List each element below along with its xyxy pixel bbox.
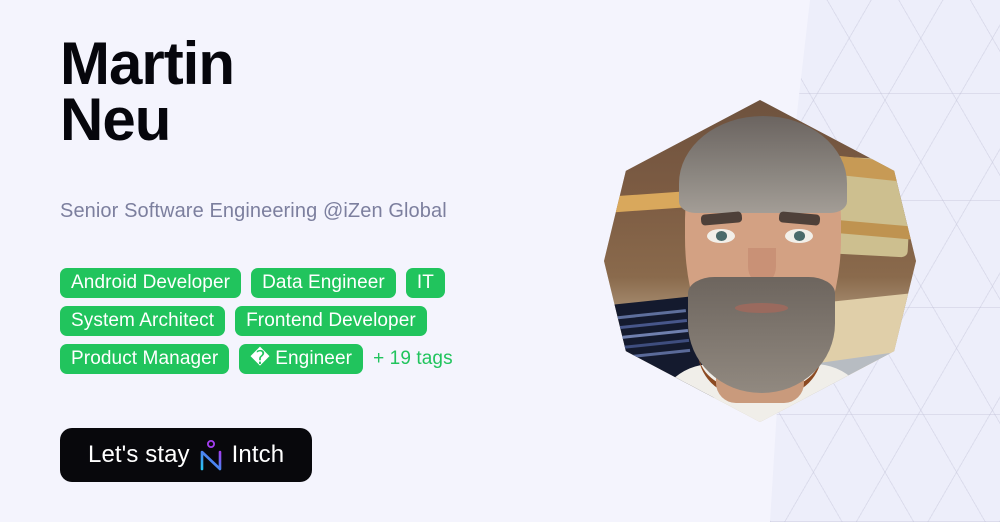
tag-list: Android Developer Data Engineer IT Syste… — [60, 268, 580, 374]
cta-label: Let's stay — [88, 443, 190, 467]
more-tags-link[interactable]: + 19 tags — [373, 344, 453, 374]
profile-content: Martin Neu Senior Software Engineering @… — [60, 0, 600, 522]
tag-chip[interactable]: Product Manager — [60, 344, 229, 374]
tag-chip[interactable]: IT — [406, 268, 445, 298]
profile-card: Martin Neu Senior Software Engineering @… — [0, 0, 1000, 522]
profile-headline: Senior Software Engineering @iZen Global — [60, 197, 447, 225]
intch-logo-icon — [198, 439, 224, 471]
tag-chip[interactable]: Data Engineer — [251, 268, 396, 298]
cta-brand-name: Intch — [232, 443, 285, 467]
tag-chip[interactable]: Frontend Developer — [235, 306, 427, 336]
profile-name: Martin Neu — [60, 36, 234, 148]
photo-mouth — [735, 303, 788, 313]
lets-stay-intch-button[interactable]: Let's stay Intch — [60, 428, 312, 482]
tag-chip[interactable]: � Engineer — [239, 344, 363, 374]
tag-chip[interactable]: System Architect — [60, 306, 225, 336]
tag-chip[interactable]: Android Developer — [60, 268, 241, 298]
